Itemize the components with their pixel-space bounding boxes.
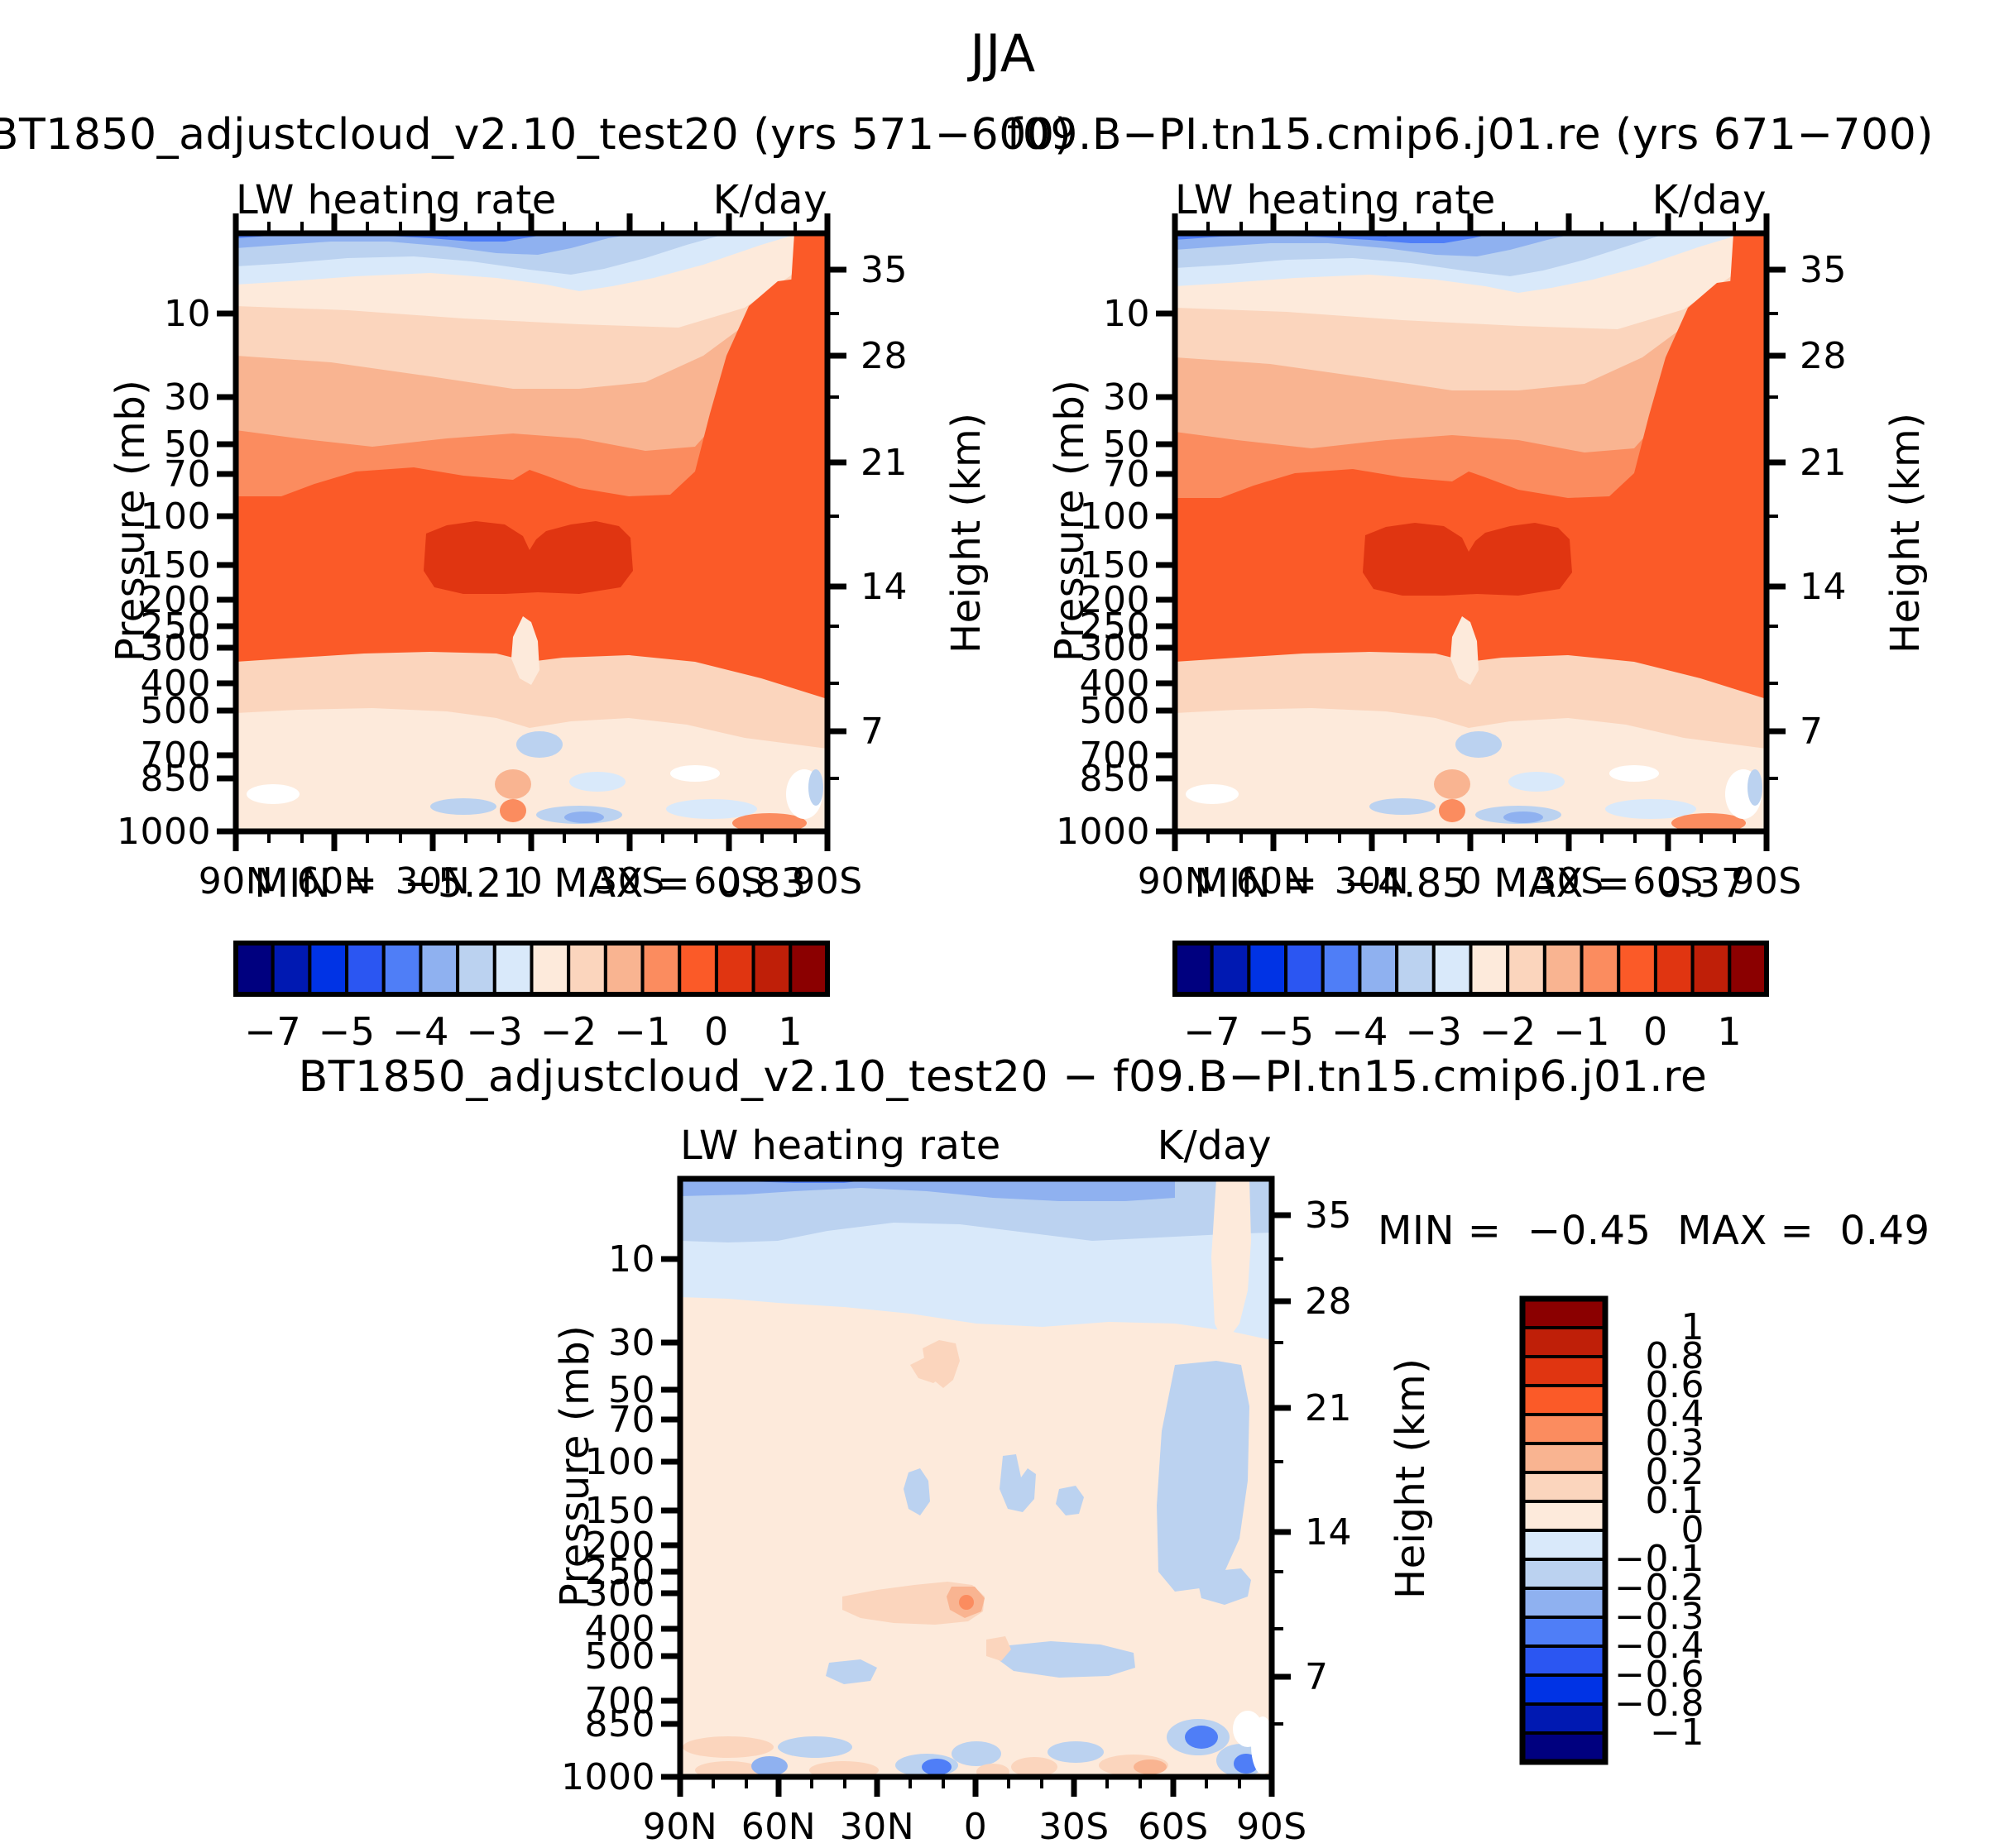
colorbar-cell <box>568 943 606 994</box>
diff-min-prefix: MIN = <box>1378 1208 1501 1254</box>
colorbar-tick-label: −5 <box>1258 1009 1315 1054</box>
height-tick: 28 <box>1800 335 1847 377</box>
height-tick: 14 <box>861 566 908 608</box>
lat-tick: 60N <box>1236 860 1311 902</box>
colorbar-cell <box>1545 943 1582 994</box>
diff-max-value: 0.49 <box>1840 1208 1930 1254</box>
colorbar-cell <box>384 943 421 994</box>
colorbar-cell <box>1729 943 1767 994</box>
height-tick: 7 <box>1800 711 1824 753</box>
right-plot-frame <box>1175 233 1767 831</box>
colorbar-cell <box>1522 1530 1605 1559</box>
diff-panel-title: BT1850_adjustcloud_v2.10_test20 − f09.B−… <box>299 1052 1708 1102</box>
lat-tick: 60S <box>693 860 764 902</box>
height-tick: 35 <box>1305 1194 1352 1237</box>
height-tick: 28 <box>861 335 908 377</box>
colorbar-tick-label: −5 <box>319 1009 376 1054</box>
lat-tick: 90N <box>199 860 273 902</box>
colorbar-tick-label: 0 <box>704 1009 729 1054</box>
height-tick: 35 <box>861 249 908 291</box>
diff-max-prefix: MAX = <box>1677 1208 1814 1254</box>
height-tick: 21 <box>861 442 908 484</box>
colorbar-tick-label: −2 <box>1479 1009 1537 1054</box>
left-axis-ticks <box>217 213 846 851</box>
colorbar-cell <box>1175 943 1212 994</box>
colorbar-cell <box>1471 943 1508 994</box>
pressure-tick: 70 <box>1103 453 1150 496</box>
colorbar-cell <box>1323 943 1360 994</box>
lat-tick: 30S <box>1038 1806 1109 1848</box>
height-tick: 21 <box>1800 442 1847 484</box>
colorbar-frame <box>236 943 827 994</box>
pressure-tick: 30 <box>608 1322 655 1364</box>
pressure-tick: 30 <box>164 376 211 419</box>
height-tick: 35 <box>1800 249 1847 291</box>
colorbar-tick-label: −4 <box>392 1009 449 1054</box>
height-tick: 14 <box>1800 566 1847 608</box>
colorbar-cell <box>458 943 495 994</box>
left-plot-frame <box>236 233 827 831</box>
lat-tick: 30N <box>840 1806 914 1848</box>
pressure-tick: 1000 <box>117 811 211 853</box>
colorbar-tick-label: −3 <box>466 1009 523 1054</box>
height-tick: 28 <box>1305 1281 1352 1323</box>
lat-tick: 90S <box>792 860 862 902</box>
right-height-axis-label: Height (km) <box>1882 413 1929 654</box>
colorbar-cell <box>717 943 754 994</box>
left-colorbar-cells <box>236 943 827 994</box>
colorbar-cell <box>1434 943 1471 994</box>
right-colorbar-cells <box>1175 943 1767 994</box>
colorbar-cell <box>1656 943 1693 994</box>
diff-axis-ticks <box>661 1215 1291 1797</box>
colorbar-cell <box>754 943 791 994</box>
pressure-tick: 850 <box>585 1703 655 1745</box>
colorbar-tick-label: −4 <box>1331 1009 1388 1054</box>
diff-colorbar-cells <box>1522 1299 1605 1762</box>
lat-tick: 0 <box>964 1806 988 1848</box>
colorbar-cell <box>1522 1646 1605 1675</box>
colorbar-tick-label: −3 <box>1405 1009 1462 1054</box>
colorbar-tick-label: −1 <box>614 1009 671 1054</box>
colorbar-tick-label: 1 <box>778 1009 803 1054</box>
lat-tick: 90S <box>1236 1806 1306 1848</box>
colorbar-cell <box>1582 943 1619 994</box>
lat-tick: 90S <box>1731 860 1801 902</box>
colorbar-cell <box>1249 943 1286 994</box>
colorbar-cell <box>1522 1443 1605 1472</box>
colorbar-frame <box>1175 943 1767 994</box>
left-height-axis-label: Height (km) <box>943 413 990 654</box>
colorbar-cell <box>1522 1472 1605 1501</box>
colorbar-tick-label: 0 <box>1643 1009 1668 1054</box>
height-tick: 21 <box>1305 1387 1352 1429</box>
right-variable-label: LW heating rate <box>1175 177 1496 223</box>
right-panel-title: f09.B−PI.tn15.cmip6.j01.re (yrs 671−700) <box>1007 110 1934 160</box>
colorbar-cell <box>1397 943 1434 994</box>
pressure-tick: 10 <box>1103 293 1150 335</box>
diff-min-value: −0.45 <box>1527 1208 1652 1254</box>
pressure-tick: 100 <box>141 496 211 538</box>
left-units-label: K/day <box>713 177 827 223</box>
pressure-tick: 70 <box>164 453 211 496</box>
lat-tick: 30S <box>594 860 664 902</box>
height-tick: 7 <box>1305 1656 1329 1698</box>
colorbar-cell <box>1522 1733 1605 1762</box>
lat-tick: 60N <box>297 860 372 902</box>
pressure-tick: 850 <box>1080 758 1150 800</box>
left-field <box>236 228 827 833</box>
left-panel-title: BT1850_adjustcloud_v2.10_test20 (yrs 571… <box>0 110 1072 160</box>
colorbar-tick-label: −1 <box>1650 1712 1704 1754</box>
left-variable-label: LW heating rate <box>236 177 557 223</box>
colorbar-cell <box>1522 1588 1605 1617</box>
colorbar-cell <box>532 943 569 994</box>
diff-minmax: MIN = −0.45 MAX = 0.49 <box>1378 1208 1930 1254</box>
figure-root: JJA BT1850_adjustcloud_v2.10_test20 (yrs… <box>0 0 2004 1822</box>
pressure-tick: 10 <box>608 1238 655 1281</box>
diff-height-axis-label: Height (km) <box>1388 1358 1434 1599</box>
pressure-tick: 10 <box>164 293 211 335</box>
colorbar-tick-label: −7 <box>1183 1009 1240 1054</box>
colorbar-cell <box>1522 1704 1605 1733</box>
colorbar-cell <box>679 943 717 994</box>
colorbar-cell <box>495 943 532 994</box>
colorbar-cell <box>1212 943 1249 994</box>
pressure-tick: 100 <box>1080 496 1150 538</box>
lat-tick: 60S <box>1138 1806 1208 1848</box>
diff-plot-frame <box>680 1179 1272 1777</box>
season-title: JJA <box>970 23 1035 84</box>
lat-tick: 0 <box>1459 860 1483 902</box>
lat-tick: 30N <box>1335 860 1409 902</box>
pressure-tick: 100 <box>585 1441 655 1483</box>
lat-tick: 30S <box>1533 860 1604 902</box>
colorbar-cell <box>347 943 384 994</box>
colorbar-cell <box>236 943 273 994</box>
colorbar-tick-label: −2 <box>540 1009 597 1054</box>
pressure-tick: 850 <box>141 758 211 800</box>
colorbar-cell <box>1522 1559 1605 1588</box>
right-units-label: K/day <box>1652 177 1767 223</box>
colorbar-cell <box>790 943 827 994</box>
lat-tick: 30N <box>396 860 470 902</box>
pressure-tick: 30 <box>1103 376 1150 419</box>
colorbar-cell <box>1522 1675 1605 1704</box>
colorbar-tick-label: 1 <box>1717 1009 1742 1054</box>
colorbar-cell <box>1618 943 1656 994</box>
right-axis-ticks <box>1156 213 1786 851</box>
diff-field <box>680 1179 1274 1780</box>
colorbar-tick-label: −7 <box>244 1009 301 1054</box>
colorbar-cell <box>1522 1501 1605 1530</box>
pressure-tick: 500 <box>585 1635 655 1678</box>
lat-tick: 60N <box>741 1806 816 1848</box>
colorbar-cell <box>1522 1357 1605 1386</box>
pressure-tick: 500 <box>141 690 211 732</box>
colorbar-cell <box>606 943 643 994</box>
colorbar-tick-label: −1 <box>1553 1009 1610 1054</box>
colorbar-cell <box>420 943 458 994</box>
colorbar-cell <box>1522 1328 1605 1357</box>
lat-tick: 60S <box>1632 860 1703 902</box>
diff-variable-label: LW heating rate <box>680 1123 1001 1169</box>
pressure-tick: 70 <box>608 1399 655 1441</box>
colorbar-cell <box>1286 943 1323 994</box>
pressure-tick: 1000 <box>561 1756 655 1798</box>
colorbar-cell <box>1522 1415 1605 1443</box>
colorbar-cell <box>309 943 347 994</box>
colorbar-cell <box>273 943 310 994</box>
lat-tick: 90N <box>1138 860 1212 902</box>
lat-tick: 0 <box>520 860 544 902</box>
height-tick: 7 <box>861 711 885 753</box>
colorbar-cell <box>643 943 680 994</box>
colorbar-cell <box>1508 943 1545 994</box>
pressure-tick: 1000 <box>1056 811 1150 853</box>
pressure-tick: 500 <box>1080 690 1150 732</box>
colorbar-cell <box>1359 943 1397 994</box>
lat-tick: 90N <box>643 1806 717 1848</box>
right-field <box>1175 228 1767 833</box>
diff-units-label: K/day <box>1158 1123 1272 1169</box>
colorbar-cell <box>1522 1386 1605 1415</box>
colorbar-cell <box>1522 1617 1605 1646</box>
colorbar-cell <box>1693 943 1730 994</box>
height-tick: 14 <box>1305 1511 1352 1554</box>
colorbar-frame <box>1522 1299 1605 1762</box>
colorbar-cell <box>1522 1299 1605 1328</box>
